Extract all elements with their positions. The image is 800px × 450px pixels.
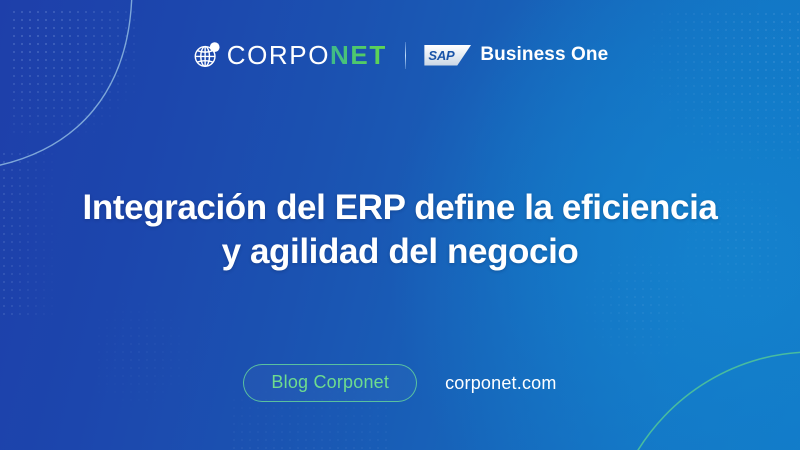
promo-banner: CORPONET SAP Business One Integración de… xyxy=(0,0,800,450)
globe-icon xyxy=(192,40,222,70)
dot-pattern-top-right xyxy=(650,10,800,160)
arc-top-left-icon xyxy=(0,0,132,168)
logo-divider xyxy=(405,42,407,69)
page-title: Integración del ERP define la eficiencia… xyxy=(40,186,760,274)
headline-line-1: Integración del ERP define la eficiencia xyxy=(40,186,760,230)
logo-lockup: CORPONET SAP Business One xyxy=(0,40,800,70)
wordmark-corpo: CORPO xyxy=(227,40,330,70)
sap-business-one-logo[interactable]: SAP Business One xyxy=(424,44,608,66)
blog-corponet-button[interactable]: Blog Corponet xyxy=(243,364,417,402)
corponet-wordmark: CORPONET xyxy=(227,42,387,68)
wordmark-net: NET xyxy=(330,40,387,70)
headline-line-2: y agilidad del negocio xyxy=(40,230,760,274)
sap-mark-icon: SAP xyxy=(424,45,471,66)
sap-product-name: Business One xyxy=(480,44,608,66)
sap-mark-label: SAP xyxy=(424,49,454,62)
corponet-logo[interactable]: CORPONET xyxy=(192,40,387,70)
dot-pattern-top-left xyxy=(10,8,140,138)
footer-row: Blog Corponet corponet.com xyxy=(0,364,800,402)
site-url-link[interactable]: corponet.com xyxy=(445,373,556,394)
